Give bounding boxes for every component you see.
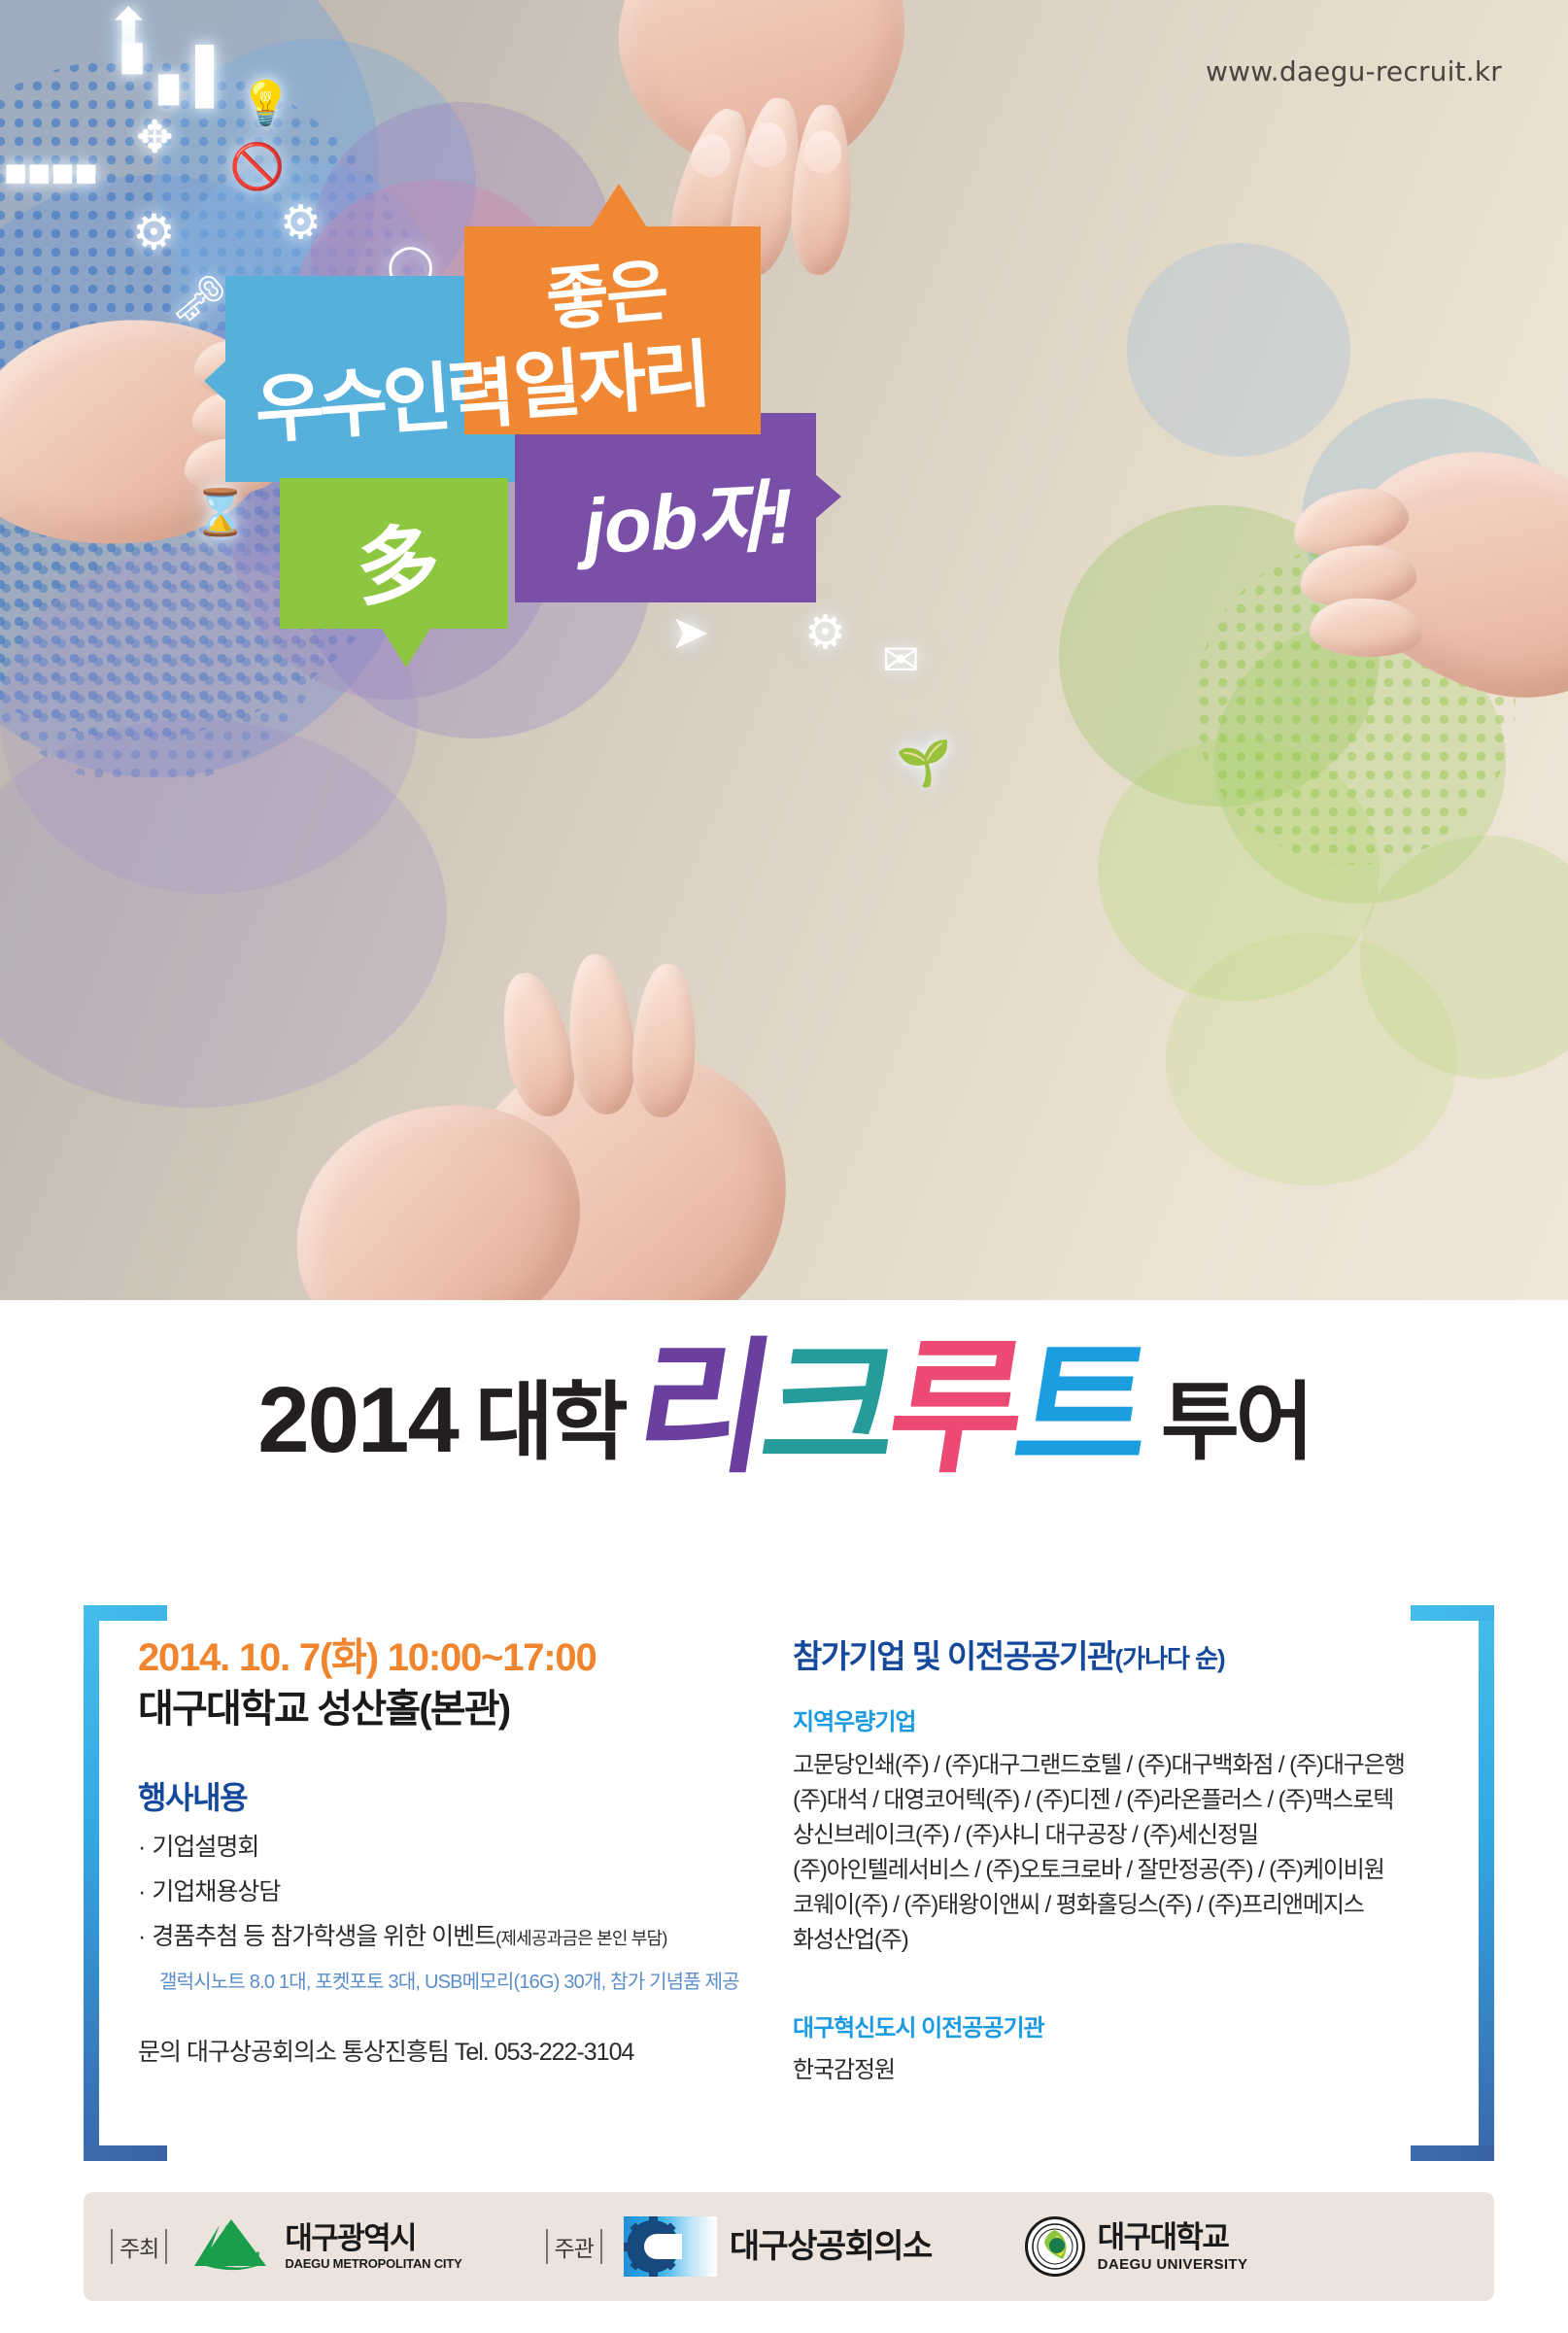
chamber-name: 대구상공회의소 [730,2230,932,2263]
play-arrow-icon: ➤ [670,610,709,657]
chamber-of-commerce-logo: 대구상공회의소 [624,2216,932,2277]
bracket-left-top [84,1605,167,1621]
participants-heading-main: 참가기업 및 이전공공기관 [793,1638,1115,1674]
company-line: 코웨이(주) / (주)태왕이앤씨 / 평화홀딩스(주) / (주)프리앤메지스 [793,1888,1463,1923]
program-item-text: 경품추첨 등 참가학생을 위한 이벤트 [152,1923,495,1950]
info-panel: 2014. 10. 7(화) 10:00~17:00 대구대학교 성산홀(본관)… [84,1605,1494,2161]
speech-bubble-purple-label: job자! [580,453,795,576]
title-logo-char-1: 리 [629,1347,774,1469]
poster-title: 2014 대학 리 크 루 트 투어 [0,1347,1568,1469]
university-seal-icon [1025,2216,1085,2277]
title-univ: 대학 [458,1380,638,1469]
contact-line: 문의 대구상공회의소 통상진흥팀 Tel. 053-222-3104 [138,2033,760,2068]
daegu-mountain-icon: DAEGU [188,2217,272,2276]
bracket-right-vertical [1479,1605,1494,2161]
program-item: ·경품추첨 등 참가학생을 위한 이벤트(제세공과금은 본인 부담) [138,1922,760,1952]
public-institutions-label: 대구혁신도시 이전공공기관 [793,2008,1463,2042]
leaf-icon: 🌱 [896,740,951,785]
hero-banner: ⬆ ▘▖▌ 💡 ✥ ■■■■ 🚫 ⚙ ⚙ 🗝 ◯ ⌛ ➤ ⚙ ✉ 🌱 www.d… [0,0,1568,1300]
battery-icon: ■■■■ [4,154,98,192]
bracket-right-bottom [1411,2145,1494,2161]
decorative-blob [1166,933,1457,1185]
organizer-role-label: 주관 [546,2229,602,2264]
chamber-name-kr: 대구상공회의소 [730,2230,932,2263]
participants-heading: 참가기업 및 이전공공기관(가나다 순) [793,1630,1463,1677]
daegu-city-name-en: DAEGU METROPOLITAN CITY [285,2257,461,2270]
event-date: 2014. 10. 7(화) 10:00~17:00 [138,1634,760,1682]
bullet-marker: · [138,1923,145,1950]
speech-bubble-orange-line2: 일자리 [509,314,711,434]
bar-chart-icon: ▘▖▌ [122,49,228,101]
daegu-city-name-kr: 대구광역시 [285,2223,461,2253]
bracket-left-vertical [84,1605,99,2161]
title-year: 2014 [257,1374,458,1469]
move-arrows-icon: ✥ [136,115,174,159]
program-item-text: 기업설명회 [152,1834,258,1861]
public-institution-item: 한국감정원 [793,2050,1463,2084]
university-name-en: DAEGU UNIVERSITY [1098,2257,1248,2272]
title-logo-char-4: 트 [1007,1347,1153,1469]
university-name: 대구대학교 DAEGU UNIVERSITY [1098,2222,1248,2272]
program-item-text: 기업채용상담 [152,1878,280,1905]
company-line: (주)아인텔레서비스 / (주)오토크로바 / 잘만정공(주) / (주)케이비… [793,1853,1463,1888]
envelope-icon: ✉ [882,637,920,682]
program-item-note: (제세공과금은 본인 부담) [495,1929,666,1948]
lightbulb-icon: 💡 [239,83,292,125]
bullet-marker: · [138,1834,145,1861]
bullet-marker: · [138,1878,145,1905]
title-tour: 투어 [1143,1380,1311,1469]
daegu-city-name: 대구광역시 DAEGU METROPOLITAN CITY [285,2223,461,2270]
event-info-column: 2014. 10. 7(화) 10:00~17:00 대구대학교 성산홀(본관)… [138,1634,760,2068]
program-item: ·기업설명회 [138,1833,760,1863]
key-icon: 🗝 [171,276,227,321]
company-line: 화성산업(주) [793,1923,1463,1958]
participants-column: 참가기업 및 이전공공기관(가나다 순) 지역우량기업 고문당인쇄(주) / (… [793,1630,1463,2084]
daegu-university-logo: 대구대학교 DAEGU UNIVERSITY [1025,2216,1248,2277]
program-heading: 행사내용 [138,1773,760,1818]
gear-icon: ⚙ [132,208,176,257]
university-name-kr: 대구대학교 [1098,2222,1248,2252]
daegu-mark-text: DAEGU [202,2248,259,2268]
event-venue: 대구대학교 성산홀(본관) [138,1684,760,1734]
title-recruit-logo: 리 크 루 트 [629,1347,1153,1469]
company-line: 고문당인쇄(주) / (주)대구그랜드호텔 / (주)대구백화점 / (주)대구… [793,1748,1463,1783]
speech-bubble-green-label: 多 [351,494,445,622]
host-role-label: 주최 [111,2229,167,2264]
sponsor-footer: 주최 DAEGU 대구광역시 DAEGU METROPOLITAN CITY 주… [84,2192,1494,2301]
participants-heading-suffix: (가나다 순) [1115,1644,1225,1673]
prize-list: 갤럭시노트 8.0 1대, 포켓포토 3대, USB메모리(16G) 30개, … [159,1966,760,1994]
website-url: www.daegu-recruit.kr [1206,55,1502,87]
local-companies-label: 지역우량기업 [793,1702,1463,1736]
daegu-city-logo: DAEGU 대구광역시 DAEGU METROPOLITAN CITY [188,2217,461,2276]
bracket-right-top [1411,1605,1494,1621]
no-entry-icon: 🚫 [229,144,285,189]
company-line: 상신브레이크(주) / (주)샤니 대구공장 / (주)세신정밀 [793,1818,1463,1853]
speech-bubble-blue-label: 우수인력 [251,333,513,459]
title-logo-char-3: 루 [881,1347,1027,1469]
company-line: (주)대석 / 대영코어텍(주) / (주)디젠 / (주)라온플러스 / (주… [793,1783,1463,1818]
program-item: ·기업채용상담 [138,1877,760,1907]
cog-icon: ⚙ [804,610,846,657]
title-logo-char-2: 크 [755,1347,901,1469]
hourglass-icon: ⌛ [192,490,248,534]
cog-icon: ⚙ [280,200,322,247]
gear-chamber-icon [624,2216,717,2277]
bracket-left-bottom [84,2145,167,2161]
decorative-blob [1127,243,1350,457]
poster-root: ⬆ ▘▖▌ 💡 ✥ ■■■■ 🚫 ⚙ ⚙ 🗝 ◯ ⌛ ➤ ⚙ ✉ 🌱 www.d… [0,0,1568,2333]
